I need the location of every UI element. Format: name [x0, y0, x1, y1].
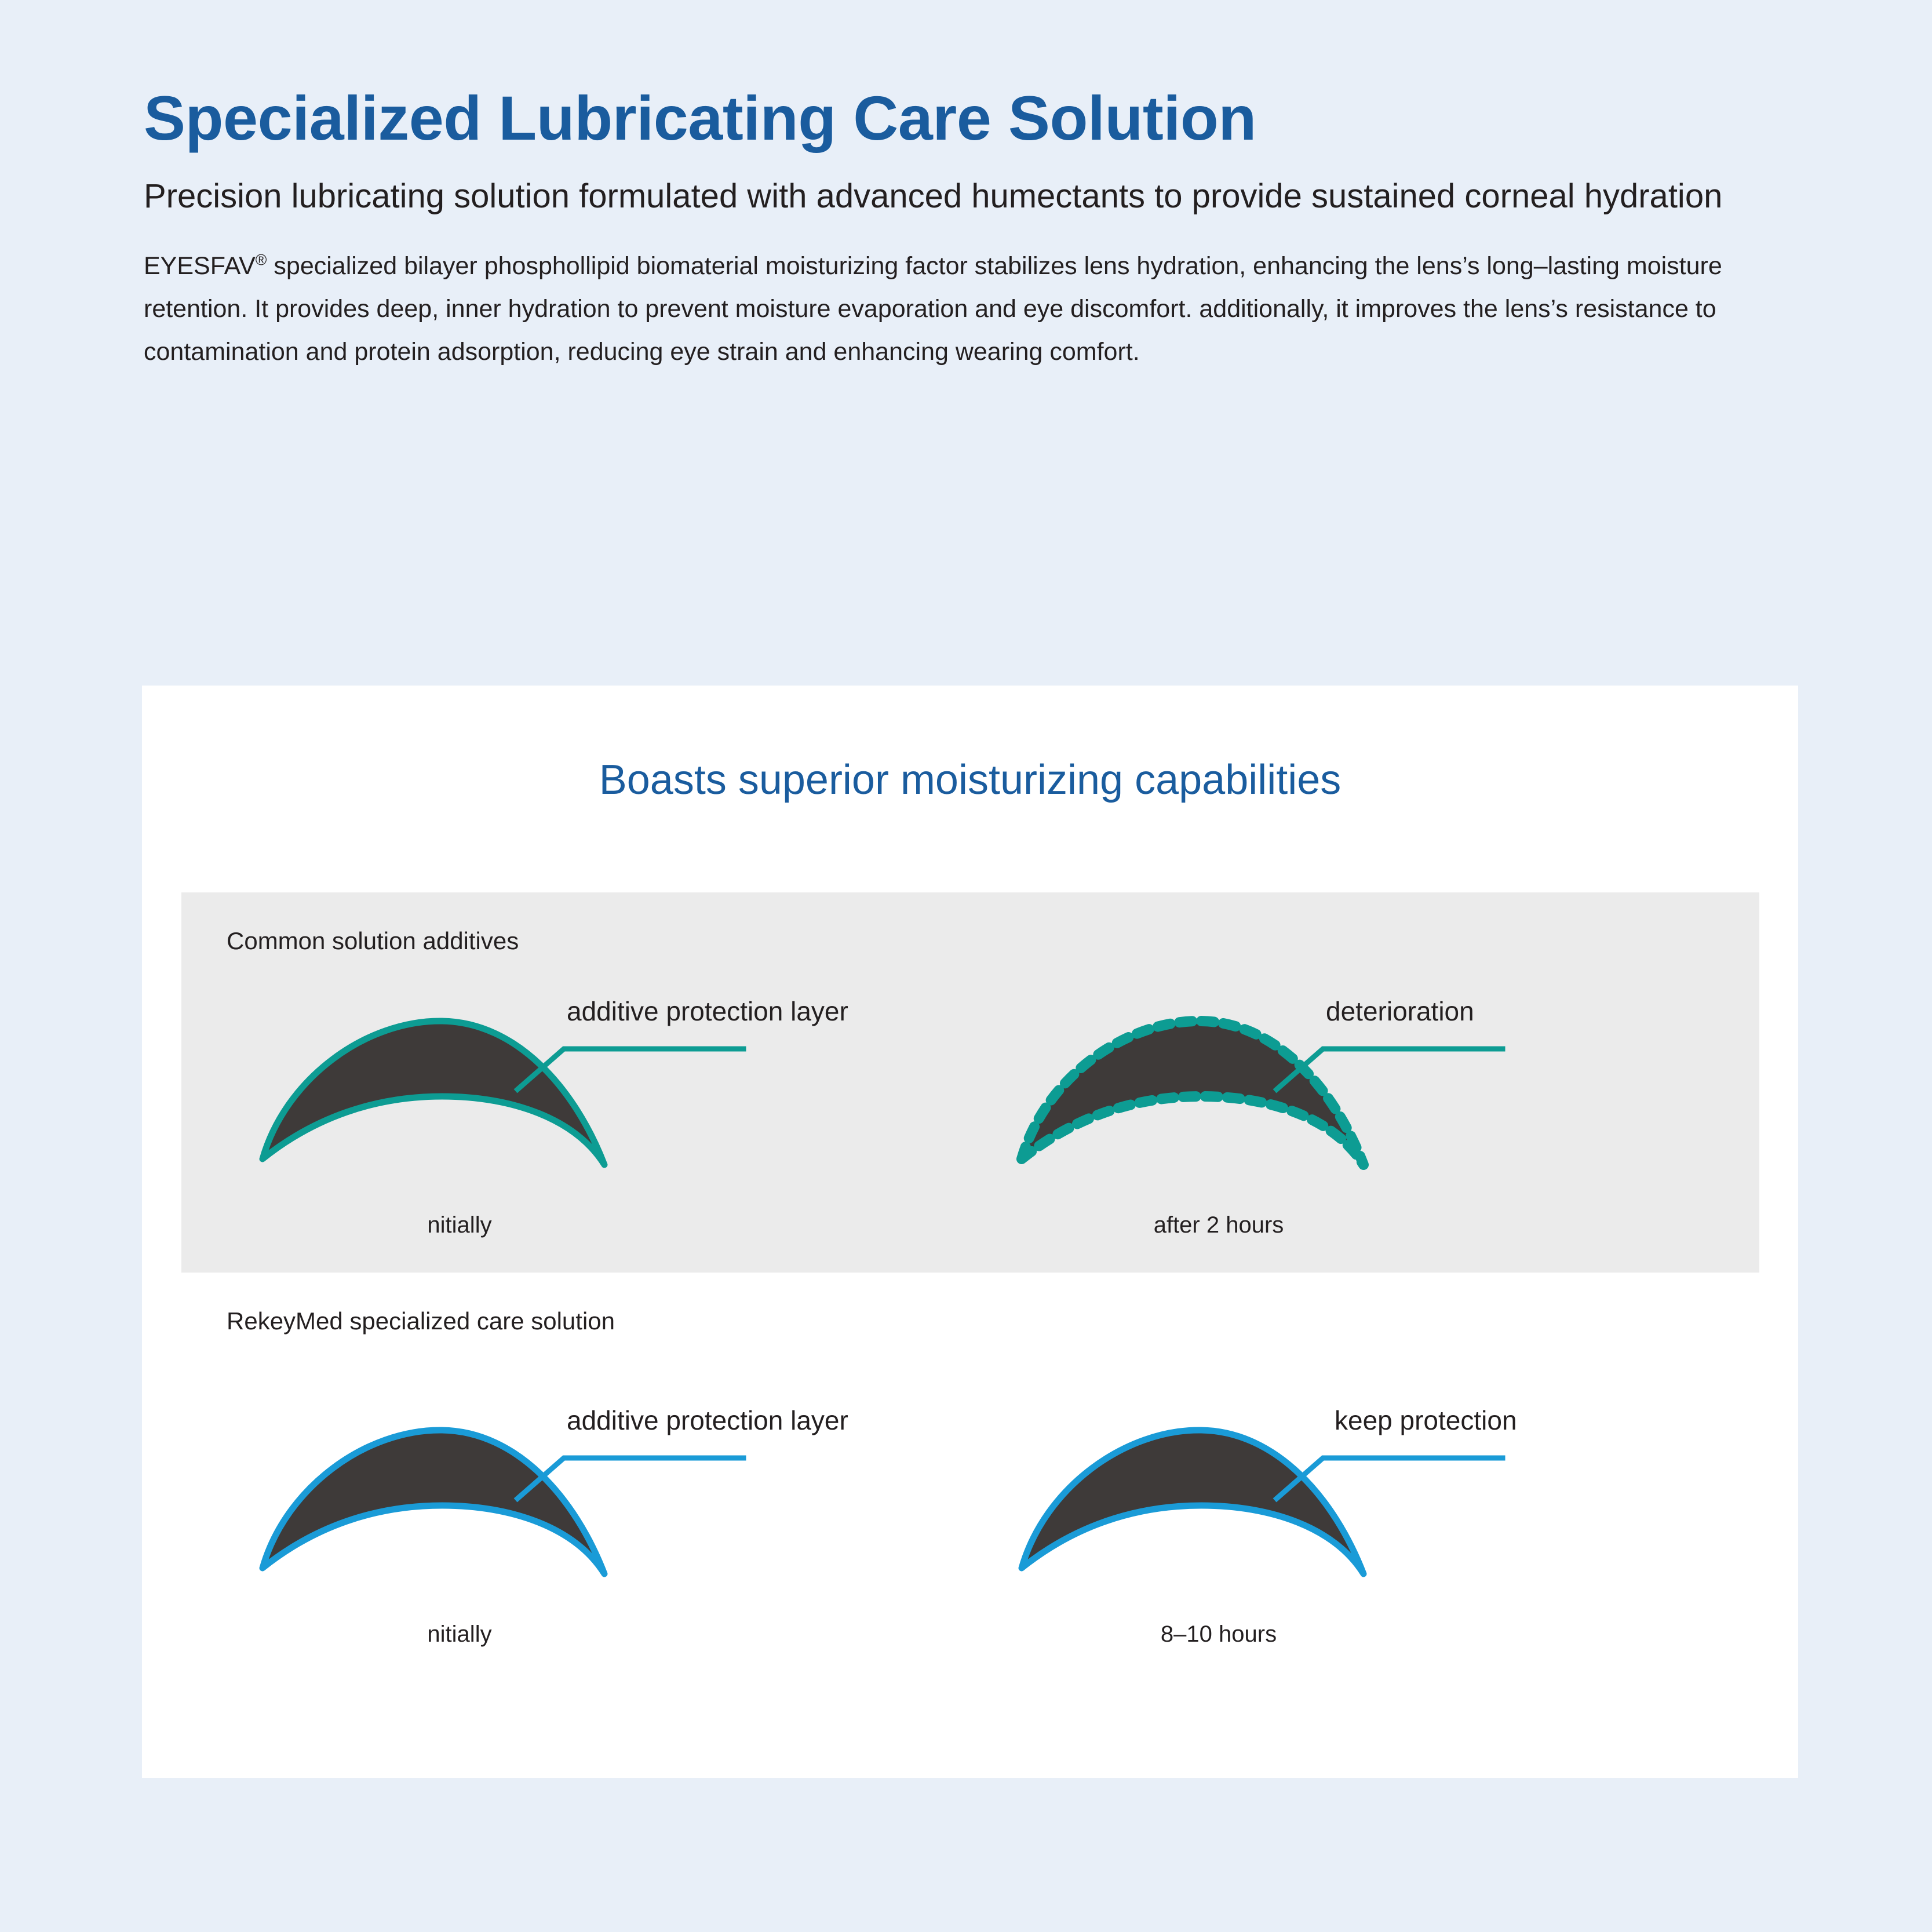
callout-rekeymed-initial: additive protection layer [567, 1405, 848, 1436]
panel-rekeymed-solution: RekeyMed specialized care solution addit… [181, 1273, 1759, 1678]
lens-figure-common-after: deterioration after 2 hours [1010, 985, 1763, 1257]
page-subtitle: Precision lubricating solution formulate… [144, 174, 1784, 218]
brand-name: EYESFAV [144, 252, 256, 280]
callout-common-after: deterioration [1326, 996, 1474, 1027]
caption-rekeymed-after: 8–10 hours [1068, 1621, 1369, 1647]
comparison-card: Boasts superior moisturizing capabilitie… [142, 686, 1798, 1778]
lens-figure-rekeymed-after: keep protection 8–10 hours [1010, 1394, 1763, 1667]
card-title: Boasts superior moisturizing capabilitie… [142, 756, 1798, 804]
lens-row-common: additive protection layer nitially deter… [181, 892, 1759, 1273]
infographic-page: Specialized Lubricating Care Solution Pr… [0, 0, 1932, 1932]
page-title: Specialized Lubricating Care Solution [144, 81, 1807, 155]
lens-row-rekeymed: additive protection layer nitially keep … [181, 1273, 1759, 1678]
header-block: Specialized Lubricating Care Solution Pr… [144, 81, 1807, 374]
callout-rekeymed-after: keep protection [1335, 1405, 1517, 1436]
caption-rekeymed-initial: nitially [309, 1621, 610, 1647]
lens-figure-common-initial: additive protection layer nitially [251, 985, 1004, 1257]
caption-common-after: after 2 hours [1068, 1212, 1369, 1238]
page-body-paragraph: EYESFAV® specialized bilayer phosphollip… [144, 245, 1792, 374]
panel-common-additives: Common solution additives additive prote… [181, 892, 1759, 1273]
callout-common-initial: additive protection layer [567, 996, 848, 1027]
caption-common-initial: nitially [309, 1212, 610, 1238]
registered-mark-icon: ® [256, 251, 267, 269]
page-body-text: specialized bilayer phosphollipid biomat… [144, 252, 1722, 366]
lens-figure-rekeymed-initial: additive protection layer nitially [251, 1394, 1004, 1667]
